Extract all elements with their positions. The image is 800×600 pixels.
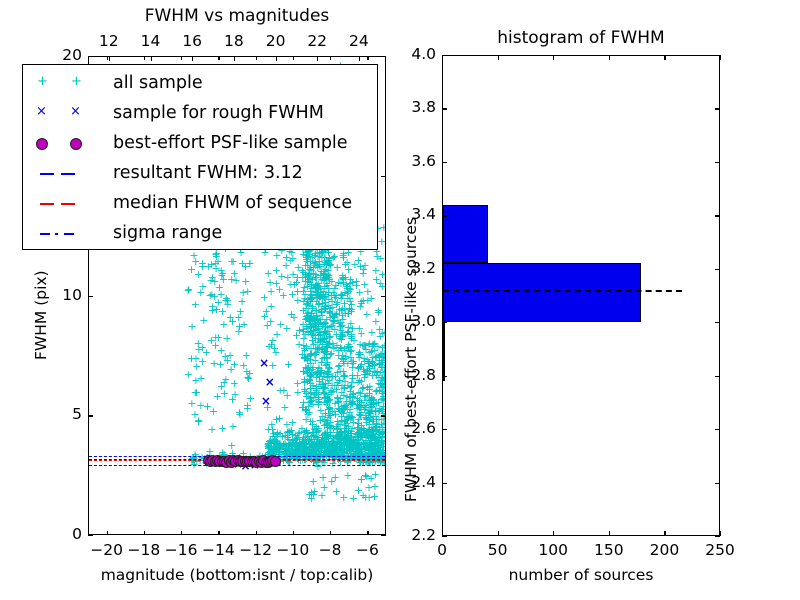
y-tick-right-mirror[interactable] (715, 269, 720, 270)
all-sample-point[interactable]: + (364, 408, 373, 419)
all-sample-point[interactable]: + (375, 359, 384, 370)
legend-item[interactable]: ++all sample (23, 68, 377, 98)
plus-icon[interactable]: + (71, 75, 82, 88)
all-sample-point[interactable]: + (380, 327, 385, 338)
top-x-tick[interactable] (151, 56, 152, 61)
legend-marker[interactable]: ×× (23, 98, 109, 128)
all-sample-point[interactable]: + (207, 259, 216, 270)
x-tick-top-mirror[interactable] (330, 56, 331, 60)
all-sample-point[interactable]: + (361, 492, 370, 503)
all-sample-point[interactable]: + (333, 427, 342, 438)
histogram-data-area (443, 56, 719, 535)
plus-icon[interactable]: + (37, 75, 48, 88)
all-sample-point[interactable]: + (226, 350, 235, 361)
legend-item[interactable]: best-effort PSF-like sample (23, 128, 377, 158)
dashed-line-icon[interactable] (40, 173, 54, 175)
all-sample-point[interactable]: + (188, 321, 197, 332)
resultant-fwhm-line[interactable] (443, 290, 682, 292)
all-sample-point[interactable]: + (206, 290, 215, 301)
y-tick[interactable] (88, 415, 93, 416)
all-sample-point[interactable]: + (268, 360, 277, 371)
all-sample-point[interactable]: + (309, 282, 318, 293)
x-tick-label[interactable]: −14 (200, 543, 236, 559)
all-sample-point[interactable]: + (337, 353, 346, 364)
all-sample-point[interactable]: + (230, 268, 239, 279)
all-sample-point[interactable]: + (317, 252, 326, 263)
x-tick-label[interactable]: 200 (644, 543, 684, 559)
dashed-line-icon[interactable] (61, 203, 75, 205)
x-tick-label[interactable]: 100 (533, 543, 573, 559)
dashed-line-icon[interactable] (61, 173, 75, 175)
all-sample-point[interactable]: + (304, 434, 313, 445)
top-x-tick-label[interactable]: 16 (174, 34, 210, 50)
all-sample-point[interactable]: + (339, 408, 348, 419)
all-sample-point[interactable]: + (284, 359, 293, 370)
all-sample-point[interactable]: + (300, 353, 309, 364)
all-sample-point[interactable]: + (380, 373, 385, 384)
histogram-bar[interactable] (443, 322, 445, 381)
x-tick-top-mirror[interactable] (609, 55, 610, 60)
all-sample-point[interactable]: + (378, 269, 385, 280)
top-x-tick-label[interactable]: 12 (91, 34, 127, 50)
all-sample-point[interactable]: + (318, 353, 327, 364)
all-sample-point[interactable]: + (282, 323, 291, 334)
x-tick[interactable] (553, 531, 554, 536)
histogram-title: histogram of FWHM (442, 30, 720, 47)
dashdot-line-icon[interactable] (64, 233, 74, 235)
y-tick[interactable] (442, 55, 447, 56)
y-tick-right-mirror[interactable] (715, 108, 720, 109)
y-tick[interactable] (442, 483, 447, 484)
x-icon[interactable]: × (36, 105, 47, 118)
y-tick-right-mirror[interactable] (715, 376, 720, 377)
top-x-tick[interactable] (234, 56, 235, 61)
y-tick[interactable] (88, 296, 93, 297)
all-sample-point[interactable]: + (184, 284, 193, 295)
all-sample-point[interactable]: + (323, 430, 332, 441)
x-tick-label[interactable]: −18 (126, 543, 162, 559)
legend-item[interactable]: median FHWM of sequence (23, 188, 377, 218)
x-tick-label[interactable]: 50 (478, 543, 518, 559)
legend-label[interactable]: best-effort PSF-like sample (113, 132, 348, 155)
all-sample-point[interactable]: + (230, 378, 239, 389)
scatter-ylabel: FWHM (pix) (34, 270, 50, 360)
x-tick-top-mirror[interactable] (720, 55, 721, 60)
histogram-ylabel: FWHM of best-effort PSF-like sources (404, 217, 420, 502)
all-sample-point[interactable]: + (270, 343, 279, 354)
y-tick-right-mirror[interactable] (381, 415, 386, 416)
x-tick[interactable] (144, 531, 145, 535)
all-sample-point[interactable]: + (343, 470, 352, 481)
y-tick-right-mirror[interactable] (715, 483, 720, 484)
legend-marker[interactable] (23, 128, 109, 158)
all-sample-point[interactable]: + (280, 402, 289, 413)
x-tick[interactable] (293, 531, 294, 535)
top-x-tick-label[interactable]: 20 (258, 34, 294, 50)
all-sample-point[interactable]: + (379, 438, 385, 449)
all-sample-point[interactable]: + (235, 409, 244, 420)
all-sample-point[interactable]: + (293, 378, 302, 389)
y-tick-label[interactable]: 0 (46, 527, 82, 543)
all-sample-point[interactable]: + (323, 397, 332, 408)
x-tick-top-mirror[interactable] (293, 56, 294, 60)
all-sample-point[interactable]: + (279, 290, 288, 301)
all-sample-point[interactable]: + (363, 365, 372, 376)
x-tick-label[interactable]: −8 (312, 543, 348, 559)
histogram-xlabel: number of sources (442, 568, 720, 584)
y-tick-right-mirror[interactable] (715, 429, 720, 430)
circle-icon[interactable] (36, 138, 48, 150)
legend-label[interactable]: all sample (113, 72, 203, 95)
x-tick-label[interactable]: 0 (422, 543, 462, 559)
dashdot-line-icon[interactable] (40, 233, 50, 235)
all-sample-point[interactable]: + (374, 307, 383, 318)
dashdot-line-icon[interactable] (55, 233, 58, 235)
all-sample-point[interactable]: + (330, 283, 339, 294)
all-sample-point[interactable]: + (228, 421, 237, 432)
y-tick-right-mirror[interactable] (715, 536, 720, 537)
all-sample-point[interactable]: + (367, 346, 376, 357)
x-tick-top-mirror[interactable] (107, 56, 108, 60)
legend-label[interactable]: median FHWM of sequence (113, 192, 352, 215)
y-tick-label[interactable]: 3.8 (396, 100, 436, 116)
all-sample-point[interactable]: + (241, 261, 250, 272)
y-tick[interactable] (88, 535, 93, 536)
legend-label[interactable]: resultant FWHM: 3.12 (113, 162, 303, 185)
all-sample-point[interactable]: + (196, 400, 205, 411)
x-tick-label[interactable]: −10 (275, 543, 311, 559)
all-sample-point[interactable]: + (339, 277, 348, 288)
all-sample-point[interactable]: + (283, 390, 292, 401)
x-tick[interactable] (664, 531, 665, 536)
all-sample-point[interactable]: + (187, 264, 196, 275)
top-x-tick-label[interactable]: 24 (341, 34, 377, 50)
x-tick-label[interactable]: 150 (589, 543, 629, 559)
y-tick-label[interactable]: 4.0 (396, 47, 436, 63)
all-sample-point[interactable]: + (362, 309, 371, 320)
y-tick[interactable] (88, 56, 93, 57)
all-sample-point[interactable]: + (365, 395, 374, 406)
top-x-tick[interactable] (192, 56, 193, 61)
all-sample-point[interactable]: + (207, 424, 216, 435)
legend-item[interactable]: sigma range (23, 218, 377, 248)
all-sample-point[interactable]: + (198, 258, 207, 269)
all-sample-point[interactable]: + (184, 369, 193, 380)
all-sample-point[interactable]: + (202, 347, 211, 358)
all-sample-point[interactable]: + (283, 272, 292, 283)
top-x-tick[interactable] (359, 56, 360, 61)
all-sample-point[interactable]: + (191, 387, 200, 398)
all-sample-point[interactable]: + (260, 311, 269, 322)
rough-fwhm-point[interactable]: × (259, 357, 269, 369)
figure-canvas: FWHM vs magnitudes 12141618202224 ++++++… (0, 0, 800, 600)
all-sample-point[interactable]: + (322, 329, 331, 340)
all-sample-point[interactable]: + (364, 430, 373, 441)
all-sample-point[interactable]: + (356, 349, 365, 360)
all-sample-point[interactable]: + (266, 277, 275, 288)
x-tick[interactable] (181, 531, 182, 535)
top-x-tick[interactable] (276, 56, 277, 61)
x-tick[interactable] (218, 531, 219, 535)
all-sample-point[interactable]: + (215, 282, 224, 293)
top-x-tick-label[interactable]: 18 (216, 34, 252, 50)
all-sample-point[interactable]: + (310, 486, 319, 497)
x-tick-top-mirror[interactable] (367, 56, 368, 60)
all-sample-point[interactable]: + (292, 330, 301, 341)
all-sample-point[interactable]: + (275, 413, 284, 424)
y-tick[interactable] (442, 376, 447, 377)
histogram-bar[interactable] (443, 263, 641, 322)
y-tick[interactable] (442, 162, 447, 163)
y-tick-right-mirror[interactable] (381, 56, 386, 57)
all-sample-point[interactable]: + (357, 298, 366, 309)
x-tick-label[interactable]: −12 (238, 543, 274, 559)
top-x-tick-label[interactable]: 22 (299, 34, 335, 50)
all-sample-point[interactable]: + (223, 299, 232, 310)
all-sample-point[interactable]: + (312, 387, 321, 398)
x-tick-top-mirror[interactable] (181, 56, 182, 60)
legend-marker[interactable] (23, 158, 109, 188)
all-sample-point[interactable]: + (187, 353, 196, 364)
legend-item[interactable]: ××sample for rough FWHM (23, 98, 377, 128)
all-sample-point[interactable]: + (272, 265, 281, 276)
all-sample-point[interactable]: + (194, 415, 203, 426)
all-sample-point[interactable]: + (353, 403, 362, 414)
all-sample-point[interactable]: + (287, 425, 296, 436)
legend-marker[interactable] (23, 188, 109, 218)
y-tick-right-mirror[interactable] (715, 162, 720, 163)
top-x-tick[interactable] (317, 56, 318, 61)
all-sample-point[interactable]: + (340, 371, 349, 382)
y-tick[interactable] (442, 215, 447, 216)
y-tick-label[interactable]: 2.2 (396, 528, 436, 544)
all-sample-point[interactable]: + (359, 264, 368, 275)
x-tick[interactable] (256, 531, 257, 535)
x-icon[interactable]: × (70, 105, 81, 118)
top-x-tick-label[interactable]: 14 (133, 34, 169, 50)
psf-like-point[interactable] (270, 456, 281, 467)
all-sample-point[interactable]: + (335, 318, 344, 329)
x-tick-top-mirror[interactable] (553, 55, 554, 60)
all-sample-point[interactable]: + (355, 287, 364, 298)
all-sample-point[interactable]: + (228, 316, 237, 327)
all-sample-point[interactable]: + (347, 304, 356, 315)
x-tick-top-mirror[interactable] (144, 56, 145, 60)
all-sample-point[interactable]: + (216, 359, 225, 370)
all-sample-point[interactable]: + (218, 423, 227, 434)
all-sample-point[interactable]: + (288, 289, 297, 300)
all-sample-point[interactable]: + (357, 474, 366, 485)
all-sample-point[interactable]: + (227, 256, 236, 267)
legend-marker[interactable]: ++ (23, 68, 109, 98)
x-tick-label[interactable]: −16 (163, 543, 199, 559)
x-tick-label[interactable]: −6 (349, 543, 385, 559)
legend-marker[interactable] (23, 218, 109, 248)
all-sample-point[interactable]: + (327, 476, 336, 487)
x-tick-top-mirror[interactable] (218, 56, 219, 60)
all-sample-point[interactable]: + (240, 319, 249, 330)
y-tick-label[interactable]: 10 (46, 288, 82, 304)
y-tick-label[interactable]: 3.6 (396, 154, 436, 170)
x-tick[interactable] (609, 531, 610, 536)
all-sample-point[interactable]: + (378, 281, 385, 292)
all-sample-point[interactable]: + (302, 405, 311, 416)
all-sample-point[interactable]: + (347, 356, 356, 367)
x-tick-top-mirror[interactable] (664, 55, 665, 60)
x-tick[interactable] (498, 531, 499, 536)
all-sample-point[interactable]: + (231, 389, 240, 400)
all-sample-point[interactable]: + (189, 250, 198, 261)
y-tick[interactable] (442, 429, 447, 430)
x-tick-label[interactable]: 250 (700, 543, 740, 559)
all-sample-point[interactable]: + (357, 328, 366, 339)
y-tick-label[interactable]: 5 (46, 407, 82, 423)
all-sample-point[interactable]: + (223, 333, 232, 344)
y-tick-right-mirror[interactable] (715, 215, 720, 216)
y-tick-label[interactable]: 20 (46, 48, 82, 64)
all-sample-point[interactable]: + (211, 332, 220, 343)
x-tick[interactable] (107, 531, 108, 535)
all-sample-point[interactable]: + (197, 373, 206, 384)
all-sample-point[interactable]: + (333, 392, 342, 403)
x-tick-label[interactable]: −20 (89, 543, 125, 559)
all-sample-point[interactable]: + (191, 299, 200, 310)
legend-label[interactable]: sigma range (113, 222, 222, 245)
all-sample-point[interactable]: + (318, 298, 327, 309)
y-tick[interactable] (442, 322, 447, 323)
all-sample-point[interactable]: + (282, 252, 291, 263)
y-tick[interactable] (442, 536, 447, 537)
all-sample-point[interactable]: + (239, 360, 248, 371)
all-sample-point[interactable]: + (217, 381, 226, 392)
all-sample-point[interactable]: + (327, 371, 336, 382)
x-tick[interactable] (720, 531, 721, 536)
all-sample-point[interactable]: + (348, 391, 357, 402)
all-sample-point[interactable]: + (339, 492, 348, 503)
dashed-line-icon[interactable] (40, 203, 54, 205)
scatter-title: FWHM vs magnitudes (88, 8, 386, 25)
legend-item[interactable]: resultant FWHM: 3.12 (23, 158, 377, 188)
all-sample-point[interactable]: + (294, 262, 303, 273)
circle-icon[interactable] (70, 138, 82, 150)
y-tick-right-mirror[interactable] (381, 176, 386, 177)
top-x-tick[interactable] (109, 56, 110, 61)
rough-fwhm-point[interactable]: × (261, 395, 271, 407)
y-tick-right-mirror[interactable] (381, 296, 386, 297)
all-sample-point[interactable]: + (287, 309, 296, 320)
y-tick[interactable] (442, 269, 447, 270)
all-sample-point[interactable]: + (367, 293, 376, 304)
all-sample-point[interactable]: + (310, 423, 319, 434)
all-sample-point[interactable]: + (260, 292, 269, 303)
all-sample-point[interactable]: + (244, 373, 253, 384)
x-tick-top-mirror[interactable] (498, 55, 499, 60)
rough-fwhm-point[interactable]: × (265, 376, 275, 388)
x-tick-top-mirror[interactable] (256, 56, 257, 60)
legend-label[interactable]: sample for rough FWHM (113, 102, 324, 125)
y-tick[interactable] (442, 108, 447, 109)
y-tick-right-mirror[interactable] (715, 322, 720, 323)
y-tick-right-mirror[interactable] (715, 55, 720, 56)
y-tick-right-mirror[interactable] (381, 535, 386, 536)
all-sample-point[interactable]: + (324, 412, 333, 423)
all-sample-point[interactable]: + (305, 315, 314, 326)
all-sample-point[interactable]: + (367, 473, 376, 484)
legend-box: ++all sample××sample for rough FWHMbest-… (22, 64, 378, 250)
scatter-xlabel: magnitude (bottom:isnt / top:calib) (88, 568, 386, 584)
all-sample-point[interactable]: + (339, 250, 348, 261)
all-sample-point[interactable]: + (239, 287, 248, 298)
x-tick[interactable] (367, 531, 368, 535)
histogram-bar[interactable] (443, 205, 488, 264)
all-sample-point[interactable]: + (212, 304, 221, 315)
x-tick[interactable] (330, 531, 331, 535)
all-sample-point[interactable]: + (349, 493, 358, 504)
